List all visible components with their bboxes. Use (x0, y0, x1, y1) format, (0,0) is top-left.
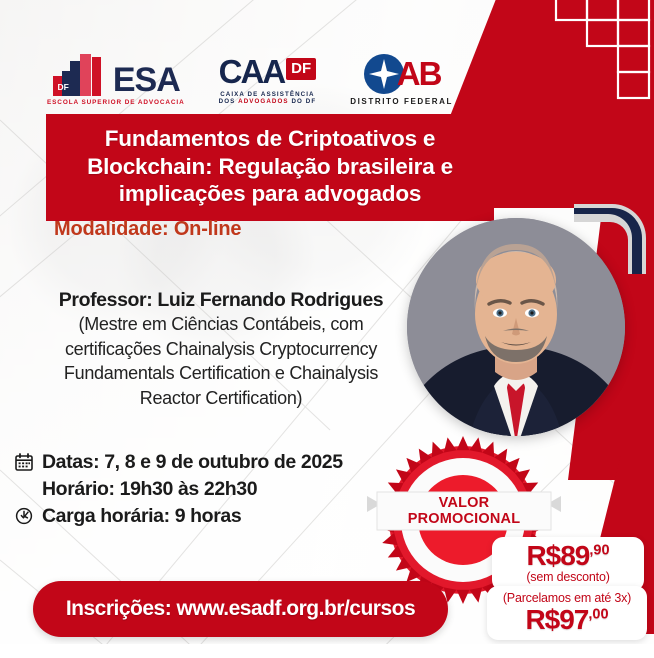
course-title-line1: Fundamentos de Criptoativos e (56, 125, 484, 153)
caa-subtitle-line1: CAIXA DE ASSISTÊNCIA (219, 91, 317, 99)
professor-credentials-line2: certificações Chainalysis Cryptocurrency (26, 338, 416, 361)
info-carga-text: Carga horária: 9 horas (42, 504, 241, 529)
grid-squares-decoration (530, 0, 654, 122)
logo-row: DF ESA ESCOLA SUPERIOR DE ADVOCACIA CAAD… (0, 30, 500, 106)
info-row-datas: Datas: 7, 8 e 9 de outubro de 2025 (14, 450, 414, 475)
oab-wordmark: AB (397, 60, 441, 88)
esa-wordmark: ESA (113, 66, 180, 96)
clock-check-icon (14, 506, 34, 526)
registration-cta-button[interactable]: Inscrições: www.esadf.org.br/cursos (33, 581, 448, 637)
price-card-full: R$89,90 (sem desconto) (492, 537, 644, 591)
svg-text:DF: DF (57, 82, 68, 92)
price-installment-cents: ,00 (588, 607, 608, 623)
info-row-horario: Horário: 19h30 às 22h30 (14, 477, 414, 502)
caa-wordmark: CAA (219, 53, 285, 90)
caa-subtitle-line2: DOS ADVOGADOS DO DF (219, 98, 317, 106)
info-horario-text: Horário: 19h30 às 22h30 (42, 477, 257, 502)
course-info-list: Datas: 7, 8 e 9 de outubro de 2025 Horár… (14, 450, 414, 531)
esa-books-icon: DF (52, 52, 108, 96)
caa-subtitle: CAIXA DE ASSISTÊNCIA DOS ADVOGADOS DO DF (219, 91, 317, 107)
registration-cta-label: Inscrições: www.esadf.org.br/cursos (66, 597, 415, 621)
quarter-arc-decoration (570, 200, 648, 278)
price-full-cents: ,90 (589, 543, 609, 559)
logo-esa: DF ESA ESCOLA SUPERIOR DE ADVOCACIA (47, 52, 185, 106)
flyer-canvas: DF ESA ESCOLA SUPERIOR DE ADVOCACIA CAAD… (0, 0, 654, 658)
info-datas-text: Datas: 7, 8 e 9 de outubro de 2025 (42, 450, 343, 475)
course-title-line2: Blockchain: Regulação brasileira e (56, 153, 484, 181)
modalidade-label: Modalidade: On-line (54, 218, 241, 241)
price-installment-amount: R$97,00 (497, 606, 637, 634)
professor-credentials-line4: Reactor Certification) (26, 387, 416, 410)
course-title-line3: implicações para advogados (56, 180, 484, 208)
bottom-strip (0, 644, 654, 658)
price-full-amount: R$89,90 (502, 542, 634, 570)
oab-subtitle: DISTRITO FEDERAL (350, 97, 453, 106)
calendar-icon (14, 452, 34, 472)
price-full-note: (sem desconto) (502, 570, 634, 585)
esa-subtitle: ESCOLA SUPERIOR DE ADVOCACIA (47, 99, 185, 106)
logo-oab: AB DISTRITO FEDERAL (350, 53, 453, 106)
professor-block: Professor: Luiz Fernando Rodrigues (Mest… (26, 288, 416, 410)
caa-df-badge: DF (286, 58, 316, 80)
professor-credentials-line1: (Mestre em Ciências Contábeis, com (26, 313, 416, 336)
professor-name: Professor: Luiz Fernando Rodrigues (26, 288, 416, 312)
price-card-installment: (Parcelamos em até 3x) R$97,00 (487, 586, 647, 640)
info-row-carga: Carga horária: 9 horas (14, 504, 414, 529)
course-title-banner: Fundamentos de Criptoativos e Blockchain… (46, 114, 494, 221)
professor-credentials-line3: Fundamentals Certification e Chainalysis (26, 362, 416, 385)
logo-caa-df: CAADF CAIXA DE ASSISTÊNCIA DOS ADVOGADOS… (219, 58, 317, 107)
